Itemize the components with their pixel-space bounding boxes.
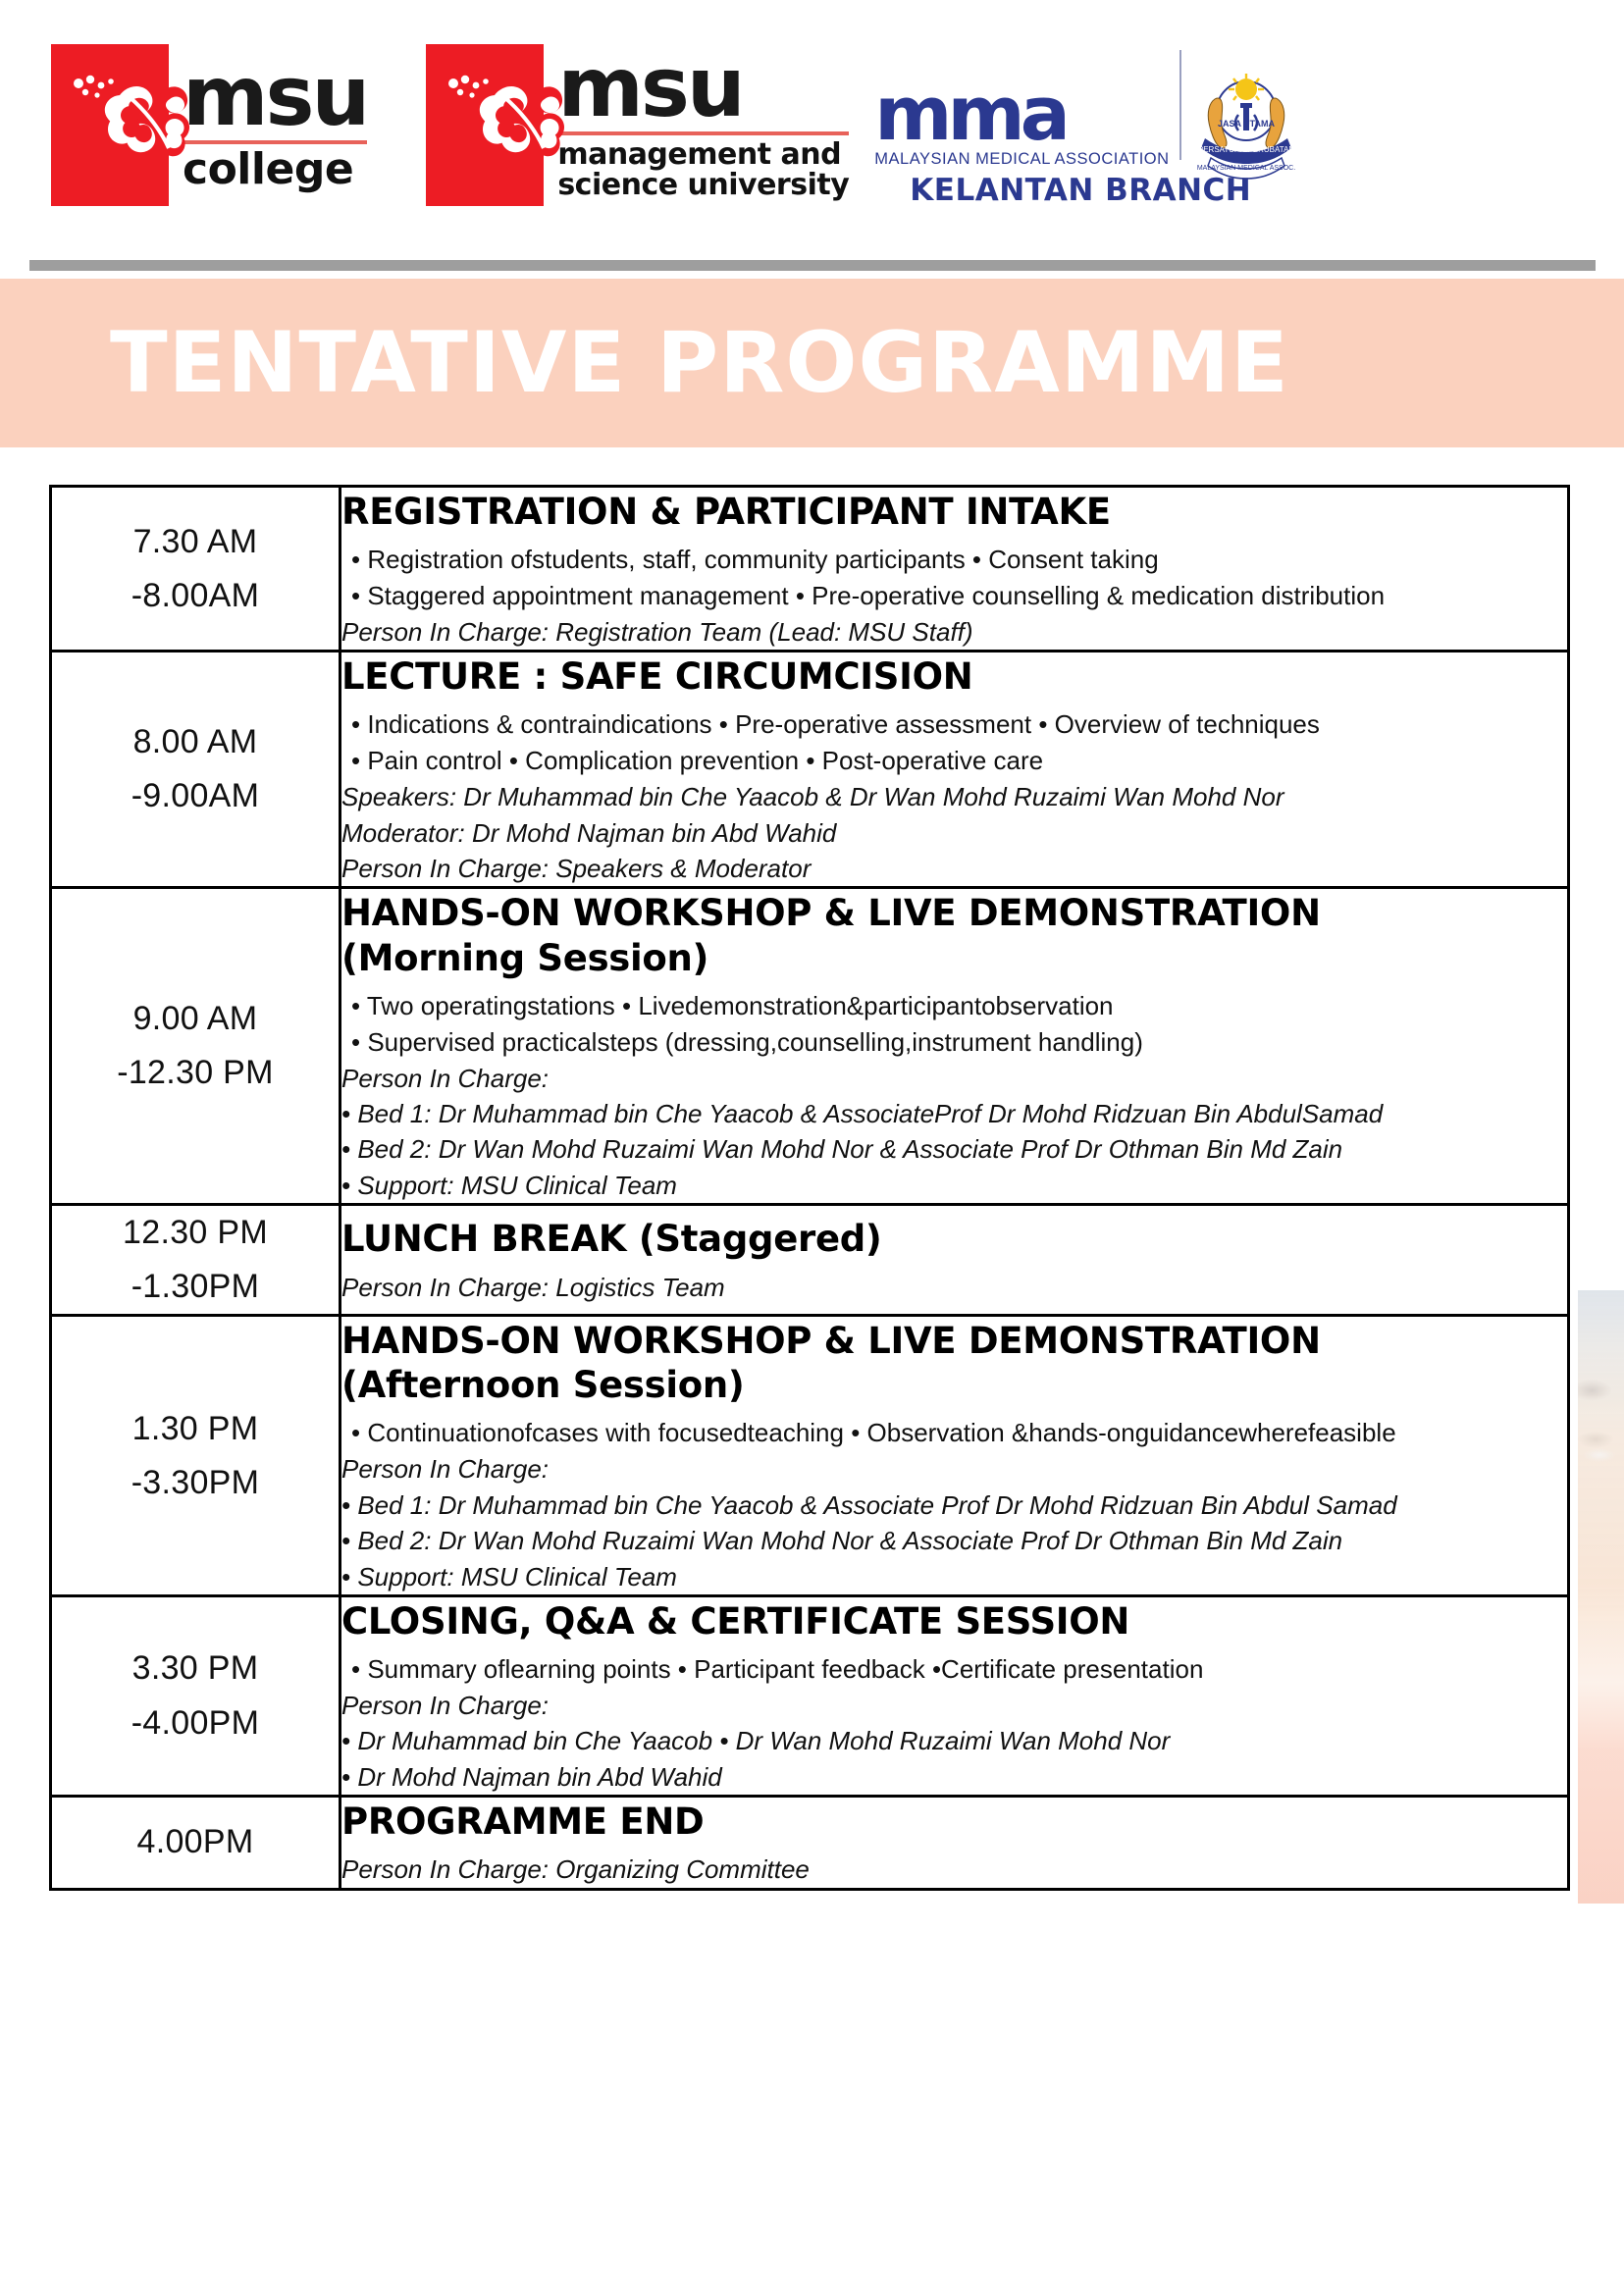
hibiscus-flower-icon [73, 62, 210, 189]
msu-wordmark: msu [183, 59, 367, 134]
programme-row: 1.30 PM-3.30PMHANDS-ON WORKSHOP & LIVE D… [51, 1316, 1569, 1596]
time-start: 7.30 AM [52, 515, 339, 569]
title-banner: TENTATIVE PROGRAMME [0, 279, 1624, 447]
time-cell: 3.30 PM-4.00PM [51, 1595, 341, 1796]
mma-crest-icon: PERSATUAN PERUBATAN MALAYSIAN MEDICAL AS… [1191, 68, 1301, 183]
session-detail-cell: HANDS-ON WORKSHOP & LIVE DEMONSTRATION(M… [341, 888, 1569, 1205]
session-note-line: • Dr Muhammad bin Che Yaacob • Dr Wan Mo… [341, 1723, 1567, 1758]
programme-row: 12.30 PM-1.30PMLUNCH BREAK (Staggered)Pe… [51, 1205, 1569, 1316]
time-end: -12.30 PM [52, 1046, 339, 1100]
session-bullets: • Two operatingstations • Livedemonstrat… [341, 988, 1567, 1061]
programme-table: 7.30 AM-8.00AMREGISTRATION & PARTICIPANT… [49, 485, 1570, 1891]
svg-text:JASA UTAMA: JASA UTAMA [1218, 119, 1275, 129]
time-start: 12.30 PM [52, 1206, 339, 1260]
time-cell: 4.00PM [51, 1797, 341, 1890]
session-detail-cell: HANDS-ON WORKSHOP & LIVE DEMONSTRATION(A… [341, 1316, 1569, 1596]
msu-university-sublabel-line2: science university [557, 170, 849, 200]
time-start: 1.30 PM [52, 1402, 339, 1456]
session-bullet: • Pain control • Complication prevention… [341, 743, 1567, 779]
time-start: 8.00 AM [52, 715, 339, 769]
session-detail-cell: PROGRAMME ENDPerson In Charge: Organizin… [341, 1797, 1569, 1890]
header-grey-divider [29, 260, 1596, 271]
msu-college-logo: msu college [51, 44, 367, 206]
svg-text:PERSATUAN PERUBATAN: PERSATUAN PERUBATAN [1197, 145, 1293, 154]
person-in-charge-line: Person In Charge: [341, 1061, 1567, 1096]
mma-divider [1179, 50, 1181, 160]
time-end: -8.00AM [52, 569, 339, 623]
session-bullet: • Staggered appointment management • Pre… [341, 578, 1567, 614]
session-title: HANDS-ON WORKSHOP & LIVE DEMONSTRATION(M… [341, 891, 1567, 979]
time-end: -3.30PM [52, 1456, 339, 1510]
session-bullet: • Registration ofstudents, staff, commun… [341, 542, 1567, 578]
session-title: REGISTRATION & PARTICIPANT INTAKE [341, 490, 1567, 534]
session-note-line: • Bed 2: Dr Wan Mohd Ruzaimi Wan Mohd No… [341, 1131, 1567, 1167]
time-cell: 9.00 AM-12.30 PM [51, 888, 341, 1205]
msu-university-sublabel-line1: management and [557, 139, 849, 170]
session-bullet: • Supervised practicalsteps (dressing,co… [341, 1024, 1567, 1061]
session-title-line: HANDS-ON WORKSHOP & LIVE DEMONSTRATION [341, 1319, 1567, 1363]
mma-branch-label: KELANTAN BRANCH [910, 173, 1251, 208]
session-title-line: REGISTRATION & PARTICIPANT INTAKE [341, 490, 1567, 534]
session-detail-cell: LUNCH BREAK (Staggered)Person In Charge:… [341, 1205, 1569, 1316]
session-title-line: PROGRAMME END [341, 1800, 1567, 1844]
programme-table-body: 7.30 AM-8.00AMREGISTRATION & PARTICIPANT… [51, 487, 1569, 1890]
session-title-line: HANDS-ON WORKSHOP & LIVE DEMONSTRATION [341, 891, 1567, 935]
hibiscus-icon [51, 44, 169, 206]
session-detail-cell: REGISTRATION & PARTICIPANT INTAKE• Regis… [341, 487, 1569, 652]
msu-college-sublabel: college [183, 148, 367, 191]
session-note-line: • Bed 1: Dr Muhammad bin Che Yaacob & As… [341, 1096, 1567, 1131]
session-bullet: • Two operatingstations • Livedemonstrat… [341, 988, 1567, 1024]
time-end: -1.30PM [52, 1260, 339, 1314]
person-in-charge-line: Person In Charge: Organizing Committee [341, 1852, 1567, 1887]
session-title-line: CLOSING, Q&A & CERTIFICATE SESSION [341, 1599, 1567, 1644]
session-title: LUNCH BREAK (Staggered) [341, 1217, 1567, 1261]
time-cell: 12.30 PM-1.30PM [51, 1205, 341, 1316]
time-start: 3.30 PM [52, 1642, 339, 1696]
programme-row: 9.00 AM-12.30 PMHANDS-ON WORKSHOP & LIVE… [51, 888, 1569, 1205]
header-logo-strip: msu college [0, 0, 1624, 250]
time-start: 9.00 AM [52, 992, 339, 1046]
person-in-charge-line: Person In Charge: Registration Team (Lea… [341, 614, 1567, 650]
session-title: LECTURE : SAFE CIRCUMCISION [341, 654, 1567, 699]
mma-wordmark: mma [874, 81, 1169, 147]
programme-row: 4.00PMPROGRAMME ENDPerson In Charge: Org… [51, 1797, 1569, 1890]
session-bullets: • Continuationofcases with focusedteachi… [341, 1415, 1567, 1451]
page-title: TENTATIVE PROGRAMME [110, 314, 1289, 412]
session-title-line: LUNCH BREAK (Staggered) [341, 1217, 1567, 1261]
session-bullets: • Registration ofstudents, staff, commun… [341, 542, 1567, 614]
time-end: -9.00AM [52, 769, 339, 823]
person-in-charge-line: Person In Charge: [341, 1451, 1567, 1487]
time-start: 4.00PM [52, 1815, 339, 1869]
time-cell: 1.30 PM-3.30PM [51, 1316, 341, 1596]
session-title: CLOSING, Q&A & CERTIFICATE SESSION [341, 1599, 1567, 1644]
time-end: -4.00PM [52, 1696, 339, 1750]
session-note-line: • Bed 1: Dr Muhammad bin Che Yaacob & As… [341, 1487, 1567, 1523]
session-title: HANDS-ON WORKSHOP & LIVE DEMONSTRATION(A… [341, 1319, 1567, 1407]
programme-row: 8.00 AM-9.00AMLECTURE : SAFE CIRCUMCISIO… [51, 652, 1569, 888]
mma-sublabel: MALAYSIAN MEDICAL ASSOCIATION [874, 150, 1169, 169]
session-note-line: Moderator: Dr Mohd Najman bin Abd Wahid [341, 815, 1567, 851]
session-title-line: LECTURE : SAFE CIRCUMCISION [341, 654, 1567, 699]
mma-kelantan-logo: mma MALAYSIAN MEDICAL ASSOCIATION [874, 44, 1300, 206]
programme-row: 3.30 PM-4.00PMCLOSING, Q&A & CERTIFICATE… [51, 1595, 1569, 1796]
session-detail-cell: LECTURE : SAFE CIRCUMCISION• Indications… [341, 652, 1569, 888]
person-in-charge-line: Person In Charge: Logistics Team [341, 1270, 1567, 1305]
person-in-charge-line: Person In Charge: [341, 1688, 1567, 1723]
time-cell: 8.00 AM-9.00AM [51, 652, 341, 888]
session-bullets: • Summary oflearning points • Participan… [341, 1651, 1567, 1688]
session-note-line: • Dr Mohd Najman bin Abd Wahid [341, 1759, 1567, 1795]
session-title: PROGRAMME END [341, 1800, 1567, 1844]
msu-university-logo: msu management and science university [426, 44, 849, 206]
session-bullet: • Continuationofcases with focusedteachi… [341, 1415, 1567, 1451]
msu-wordmark-2: msu [557, 50, 849, 126]
session-detail-cell: CLOSING, Q&A & CERTIFICATE SESSION• Summ… [341, 1595, 1569, 1796]
svg-text:MALAYSIAN MEDICAL ASSOC.: MALAYSIAN MEDICAL ASSOC. [1196, 165, 1294, 172]
session-note-line: Speakers: Dr Muhammad bin Che Yaacob & D… [341, 779, 1567, 814]
time-cell: 7.30 AM-8.00AM [51, 487, 341, 652]
session-note-line: • Support: MSU Clinical Team [341, 1168, 1567, 1203]
session-title-line: (Morning Session) [341, 936, 1567, 980]
hibiscus-flower-icon-2 [447, 62, 585, 189]
person-in-charge-line: Person In Charge: Speakers & Moderator [341, 851, 1567, 886]
session-title-line: (Afternoon Session) [341, 1363, 1567, 1407]
session-bullet: • Indications & contraindications • Pre-… [341, 706, 1567, 743]
session-note-line: • Support: MSU Clinical Team [341, 1559, 1567, 1594]
hibiscus-icon-2 [426, 44, 544, 206]
programme-row: 7.30 AM-8.00AMREGISTRATION & PARTICIPANT… [51, 487, 1569, 652]
session-note-line: • Bed 2: Dr Wan Mohd Ruzaimi Wan Mohd No… [341, 1523, 1567, 1558]
session-bullets: • Indications & contraindications • Pre-… [341, 706, 1567, 779]
session-bullet: • Summary oflearning points • Participan… [341, 1651, 1567, 1688]
background-photo-sliver [1578, 1290, 1624, 1904]
